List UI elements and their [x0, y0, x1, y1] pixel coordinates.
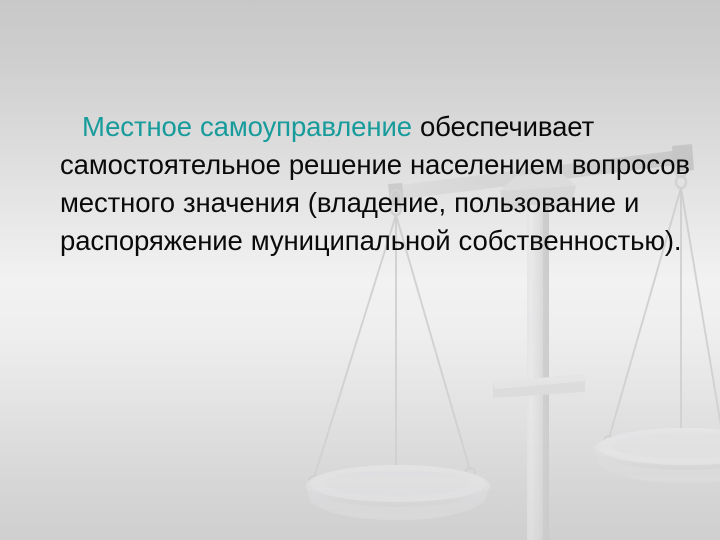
left-pan: [306, 465, 490, 520]
right-pan: [594, 428, 720, 483]
highlighted-term: Местное самоуправление: [82, 111, 412, 142]
column-crossbar: [493, 374, 587, 398]
body-paragraph: Местное самоуправление обеспечивает само…: [60, 108, 700, 260]
slide-body-text: Местное самоуправление обеспечивает само…: [60, 108, 700, 260]
presentation-slide: Местное самоуправление обеспечивает само…: [0, 0, 720, 540]
balance-scales-image: [0, 0, 720, 540]
